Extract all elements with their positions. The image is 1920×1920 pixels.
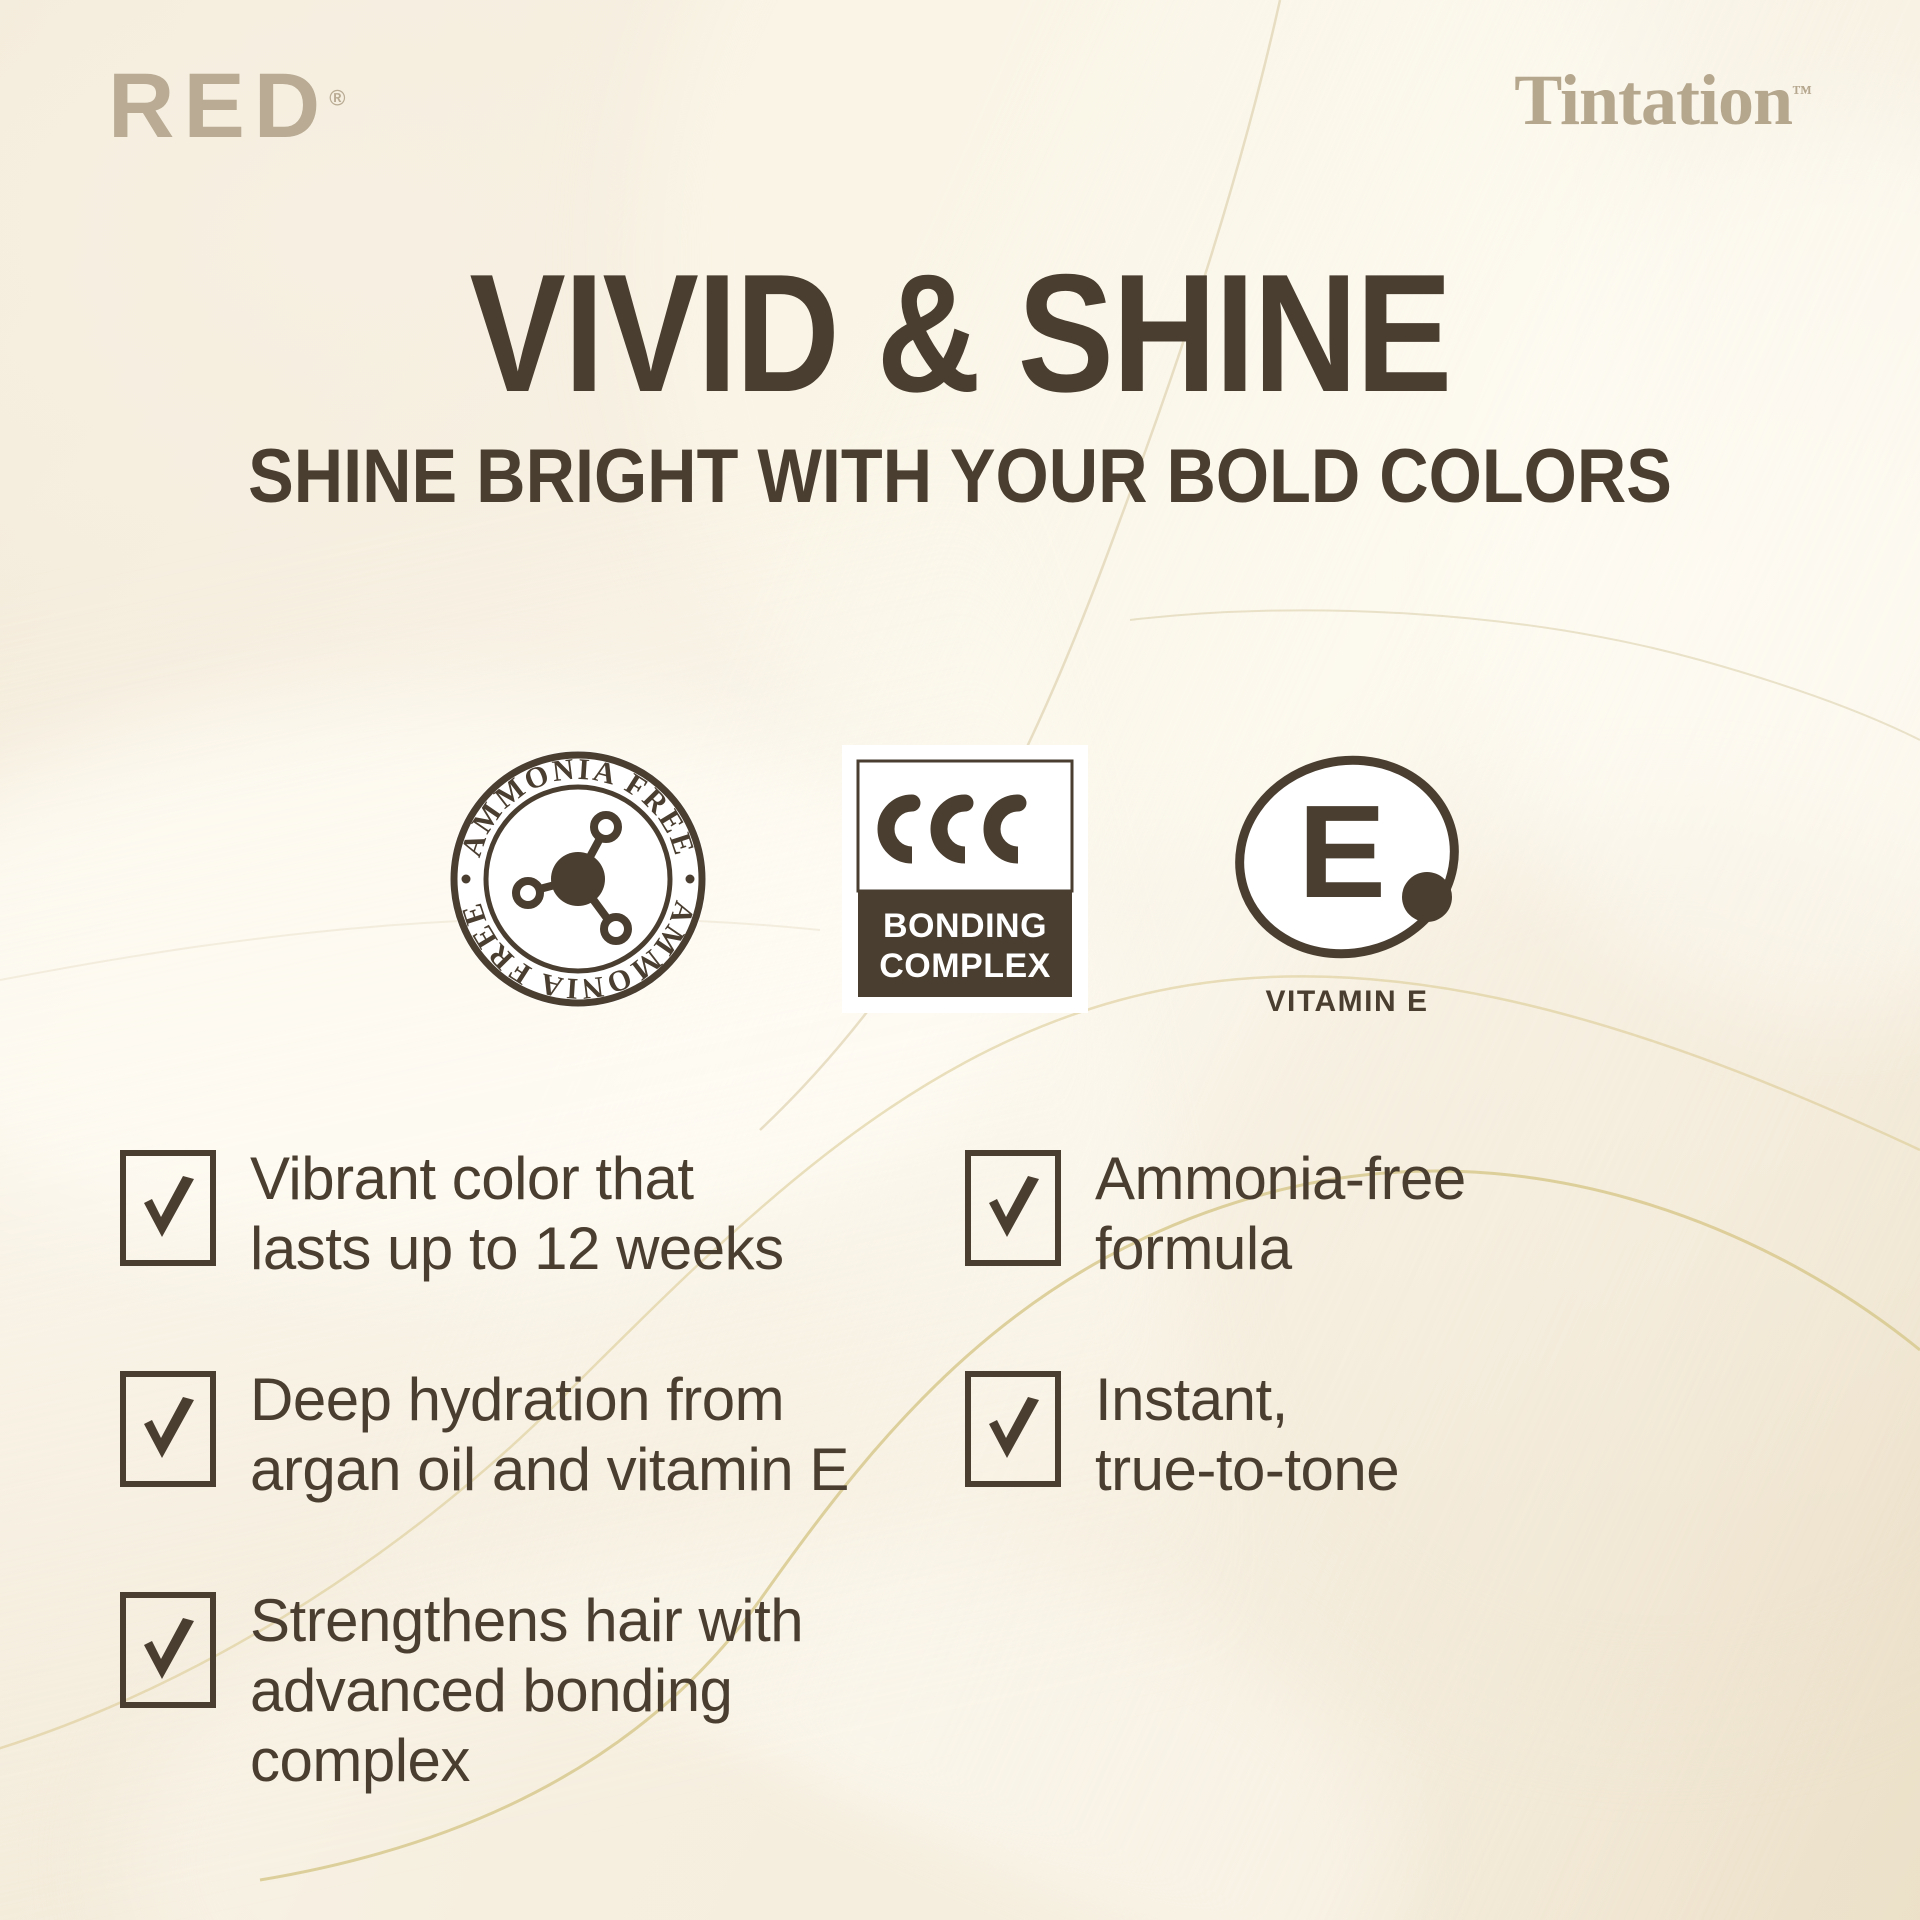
bonding-complex-label-line2: COMPLEX [879, 947, 1051, 985]
badge-ammonia-free: AMMONIA FREE AMMONIA FREE [444, 745, 712, 1017]
checkbox-checked-icon[interactable] [965, 1371, 1061, 1487]
feature-grid-spacer [965, 1582, 1820, 1795]
checkbox-checked-icon[interactable] [120, 1371, 216, 1487]
feature-item: Deep hydration from argan oil and vitami… [120, 1361, 965, 1504]
brand-logo-red: RED® [108, 60, 345, 152]
header: RED® Tintation™ [0, 0, 1920, 190]
feature-item: Ammonia-free formula [965, 1140, 1820, 1283]
vitamin-e-symbol: E [1298, 778, 1386, 925]
feature-item-label: Vibrant color that lasts up to 12 weeks [250, 1140, 784, 1283]
feature-checklist: Vibrant color that lasts up to 12 weeks … [120, 1140, 1820, 1795]
registered-trademark-icon: ® [329, 85, 345, 110]
feature-item: Strengthens hair with advanced bonding c… [120, 1582, 965, 1795]
feature-item-label: Ammonia-free formula [1095, 1140, 1466, 1283]
brand-logo-tintation-text: Tintation [1514, 60, 1792, 140]
hero-text-block: VIVID & SHINE SHINE BRIGHT WITH YOUR BOL… [0, 248, 1920, 517]
feature-item: Instant, true-to-tone [965, 1361, 1820, 1504]
page-subtitle: SHINE BRIGHT WITH YOUR BOLD COLORS [96, 437, 1824, 517]
feature-item-label: Instant, true-to-tone [1095, 1361, 1399, 1504]
product-feature-poster: RED® Tintation™ VIVID & SHINE SHINE BRIG… [0, 0, 1920, 1920]
feature-item-label: Strengthens hair with advanced bonding c… [250, 1582, 965, 1795]
badge-vitamin-e: E VITAMIN E [1218, 745, 1476, 1019]
badge-vitamin-e-caption: VITAMIN E [1266, 985, 1429, 1019]
ammonia-free-seal-icon: AMMONIA FREE AMMONIA FREE [444, 745, 712, 1013]
checkbox-checked-icon[interactable] [120, 1592, 216, 1708]
vitamin-e-atom-icon: E [1218, 745, 1476, 981]
checkbox-checked-icon[interactable] [965, 1150, 1061, 1266]
badge-row: AMMONIA FREE AMMONIA FREE [0, 745, 1920, 1045]
checkbox-checked-icon[interactable] [120, 1150, 216, 1266]
brand-logo-red-text: RED [108, 55, 329, 157]
bonding-complex-badge-icon: BONDING COMPLEX [842, 745, 1088, 1013]
bonding-complex-label-line1: BONDING [883, 907, 1047, 945]
feature-item: Vibrant color that lasts up to 12 weeks [120, 1140, 965, 1283]
badge-bonding-complex: BONDING COMPLEX [842, 745, 1088, 1017]
feature-item-label: Deep hydration from argan oil and vitami… [250, 1361, 849, 1504]
trademark-icon: ™ [1792, 82, 1812, 104]
page-title: VIVID & SHINE [134, 248, 1785, 419]
brand-logo-tintation: Tintation™ [1514, 64, 1812, 136]
